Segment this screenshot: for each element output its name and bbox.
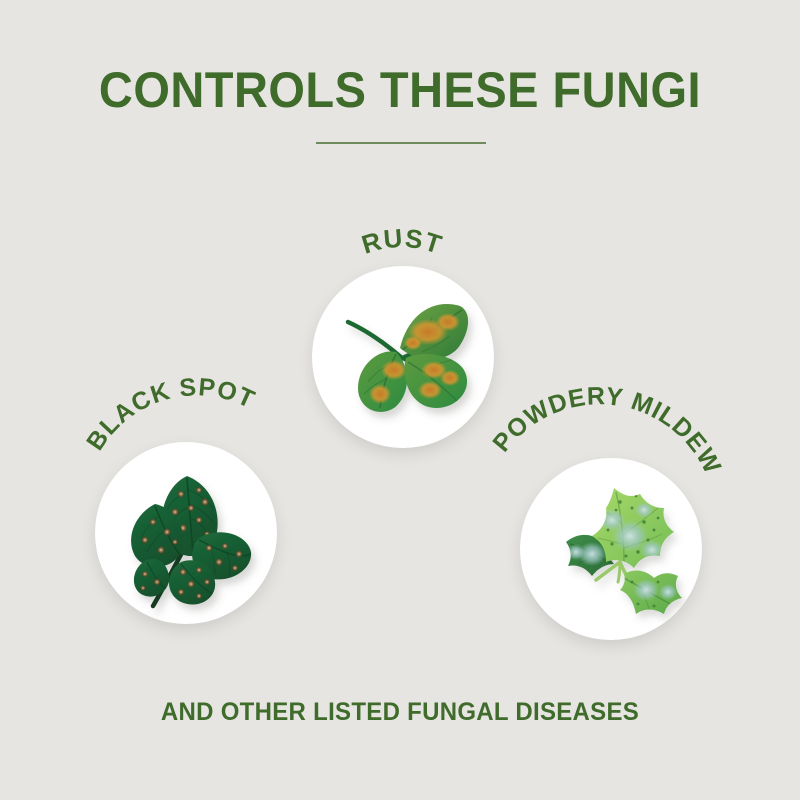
rust-leaves-icon: [312, 266, 494, 448]
arc-text-rust: RUST: [358, 223, 446, 260]
black-spot-leaves-icon: [95, 442, 277, 624]
disease-card-powdery-mildew[interactable]: POWDERY MILDEW: [490, 390, 740, 650]
disease-disc-powdery-mildew: [520, 458, 702, 640]
disease-disc-black-spot: [95, 442, 277, 624]
page-title: CONTROLS THESE FUNGI: [24, 62, 776, 118]
disease-card-black-spot[interactable]: BLACK SPOT: [68, 372, 318, 632]
footer-note: AND OTHER LISTED FUNGAL DISEASES: [16, 697, 784, 727]
disease-card-rust[interactable]: RUST: [282, 210, 522, 460]
infographic-canvas: CONTROLS THESE FUNGI RUST: [0, 0, 800, 800]
svg-text:RUST: RUST: [358, 223, 446, 260]
disease-disc-rust: [312, 266, 494, 448]
powdery-mildew-leaves-icon: [520, 458, 702, 640]
title-divider: [316, 142, 486, 144]
